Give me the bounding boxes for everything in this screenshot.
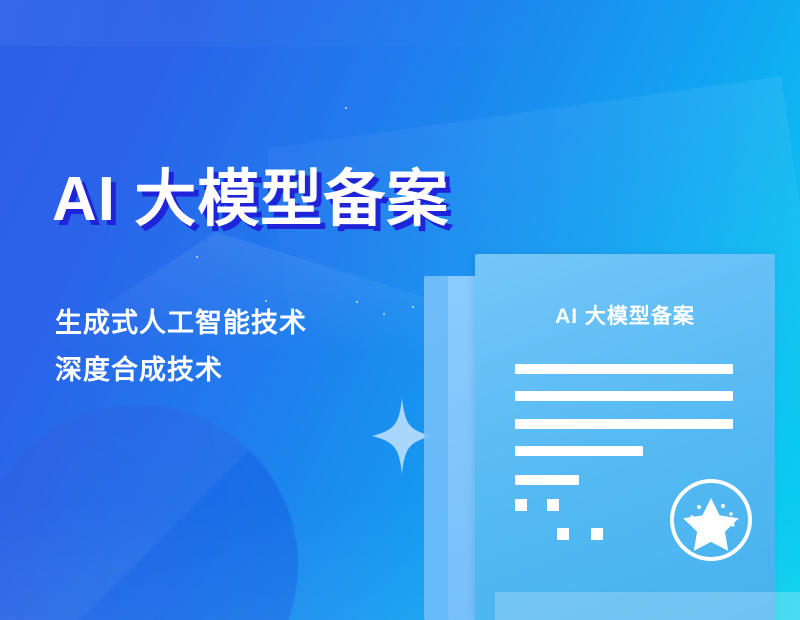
- document-card-front: AI 大模型备案: [475, 254, 775, 620]
- star-badge-icon: [667, 476, 755, 564]
- card-text-square: [557, 528, 569, 540]
- subtitle-line-1: 生成式人工智能技术: [55, 300, 415, 347]
- card-text-square: [591, 528, 603, 540]
- card-text-line: [515, 391, 733, 401]
- background-circle: [0, 405, 298, 620]
- background-circle-sheen: [0, 405, 298, 620]
- headline-block: AI 大模型备案: [52, 168, 472, 232]
- card-text-line: [515, 364, 733, 374]
- card-text-line: [515, 446, 643, 456]
- card-text-line: [515, 419, 733, 429]
- top-highlight-band: [0, 0, 800, 46]
- card-footer-band: [495, 592, 800, 620]
- background-speck: [345, 107, 347, 109]
- ai-model-filing-banner: AI 大模型备案 生成式人工智能技术 深度合成技术 AI 大模型备案: [0, 0, 800, 620]
- document-card-stack: AI 大模型备案: [420, 254, 800, 620]
- page-title: AI 大模型备案: [52, 168, 472, 232]
- background-speck: [196, 256, 198, 258]
- card-text-line: [515, 475, 579, 485]
- subtitle-block: 生成式人工智能技术 深度合成技术: [55, 300, 415, 394]
- card-title: AI 大模型备案: [475, 300, 775, 330]
- card-text-square: [515, 499, 527, 511]
- card-text-square: [547, 499, 559, 511]
- subtitle-line-2: 深度合成技术: [55, 347, 415, 394]
